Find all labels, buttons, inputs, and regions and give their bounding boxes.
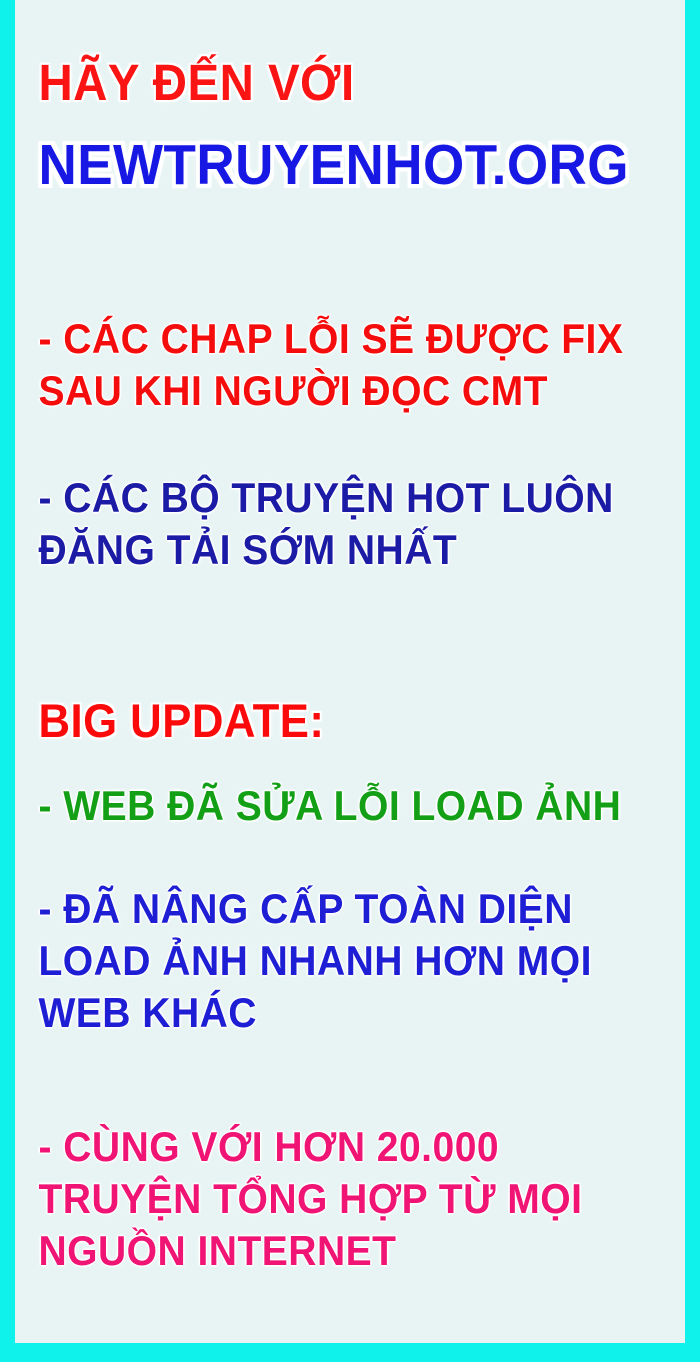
- headline-invite: HÃY ĐẾN VỚI: [15, 57, 685, 109]
- update-full-upgrade-line-1: - ĐÃ NÂNG CẤP TOÀN DIỆN: [38, 888, 661, 931]
- big-update-heading: BIG UPDATE:: [15, 697, 685, 745]
- update-item-image-load-fix: - WEB ĐÃ SỬA LỖI LOAD ẢNH: [15, 785, 685, 828]
- update-story-count-line-2: TRUYỆN TỔNG HỢP TỪ MỌI: [38, 1178, 661, 1221]
- headline-invite-line: HÃY ĐẾN VỚI: [38, 57, 661, 109]
- frame-border-bottom: [0, 1343, 700, 1362]
- big-update-title: BIG UPDATE:: [38, 697, 661, 745]
- notice-hot-series: - CÁC BỘ TRUYỆN HOT LUÔN ĐĂNG TẢI SỚM NH…: [15, 477, 685, 581]
- update-story-count-line-3: NGUỒN INTERNET: [38, 1230, 661, 1273]
- notice-hot-series-line-1: - CÁC BỘ TRUYỆN HOT LUÔN: [38, 477, 661, 520]
- frame-border-left: [0, 0, 15, 1362]
- notice-hot-series-line-2: ĐĂNG TẢI SỚM NHẤT: [38, 529, 661, 572]
- notice-fix: - CÁC CHAP LỖI SẼ ĐƯỢC FIX SAU KHI NGƯỜI…: [15, 318, 685, 422]
- update-full-upgrade-line-2: LOAD ẢNH NHANH HƠN MỌI: [38, 940, 661, 983]
- update-full-upgrade-line-3: WEB KHÁC: [38, 992, 661, 1035]
- site-name-headline[interactable]: NEWTRUYENHOT.ORG: [15, 136, 685, 194]
- frame-border-right: [685, 0, 700, 1362]
- promo-banner: HÃY ĐẾN VỚI NEWTRUYENHOT.ORG - CÁC CHAP …: [0, 0, 700, 1368]
- banner-canvas: HÃY ĐẾN VỚI NEWTRUYENHOT.ORG - CÁC CHAP …: [15, 0, 685, 1343]
- update-image-load-fix-line-1: - WEB ĐÃ SỬA LỖI LOAD ẢNH: [38, 785, 661, 828]
- update-item-full-upgrade: - ĐÃ NÂNG CẤP TOÀN DIỆN LOAD ẢNH NHANH H…: [15, 888, 685, 1043]
- notice-fix-line-2: SAU KHI NGƯỜI ĐỌC CMT: [38, 370, 661, 413]
- update-item-story-count: - CÙNG VỚI HƠN 20.000 TRUYỆN TỔNG HỢP TỪ…: [15, 1126, 685, 1281]
- site-name-text: NEWTRUYENHOT.ORG: [38, 136, 661, 194]
- update-story-count-line-1: - CÙNG VỚI HƠN 20.000: [38, 1126, 661, 1169]
- notice-fix-line-1: - CÁC CHAP LỖI SẼ ĐƯỢC FIX: [38, 318, 661, 361]
